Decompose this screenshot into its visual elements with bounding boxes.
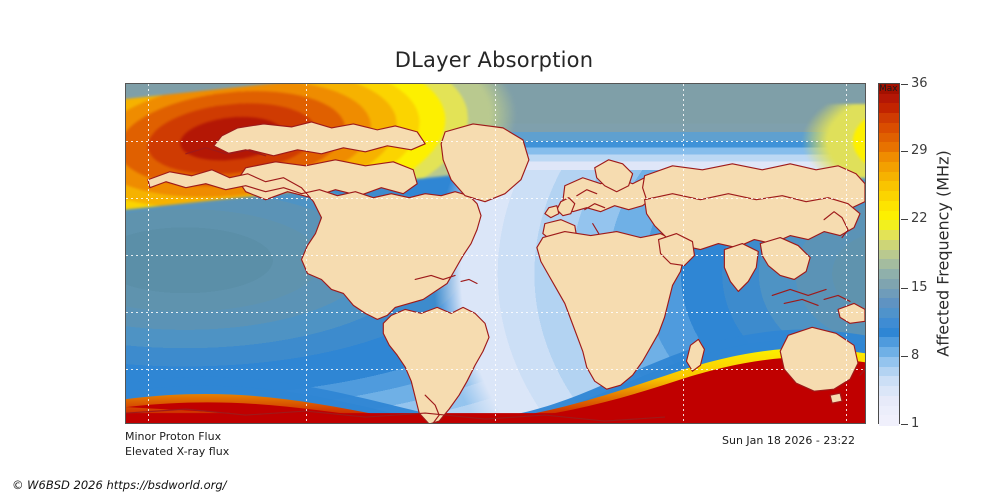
colorbar-tick-label: 22 [911, 211, 928, 226]
colorbar-tick [901, 219, 908, 220]
alert-line-1: Minor Proton Flux [125, 429, 229, 444]
world-map [125, 83, 866, 424]
colorbar-tick [901, 151, 908, 152]
page-title: DLayer Absorption [0, 48, 1000, 72]
colorbar-tick [901, 424, 908, 425]
colorbar-tick-label: 1 [911, 416, 919, 431]
colorbar-tick [901, 356, 908, 357]
colorbar-axis-label: Affected Frequency (MHz) [932, 83, 954, 424]
credit-line: © W6BSD 2026 https://bsdworld.org/ [12, 478, 227, 492]
colorbar-tick [901, 84, 908, 85]
colorbar-gradient [878, 83, 900, 424]
colorbar-tick [901, 288, 908, 289]
alerts-block: Minor Proton Flux Elevated X-ray flux [125, 429, 229, 459]
colorbar-tick-label: 29 [911, 143, 928, 158]
colorbar-segment [879, 415, 899, 425]
map-gridlines [126, 84, 865, 423]
timestamp: Sun Jan 18 2026 - 23:22 [722, 434, 855, 447]
colorbar-tick-label: 36 [911, 76, 928, 91]
colorbar-max-label: Max [879, 84, 898, 94]
colorbar-tick-label: 15 [911, 280, 928, 295]
colorbar-tick-label: 8 [911, 348, 919, 363]
dlayer-absorption-plot: DLayer Absorption [0, 0, 1000, 500]
colorbar: Max 3629221581 [878, 83, 900, 424]
alert-line-2: Elevated X-ray flux [125, 444, 229, 459]
